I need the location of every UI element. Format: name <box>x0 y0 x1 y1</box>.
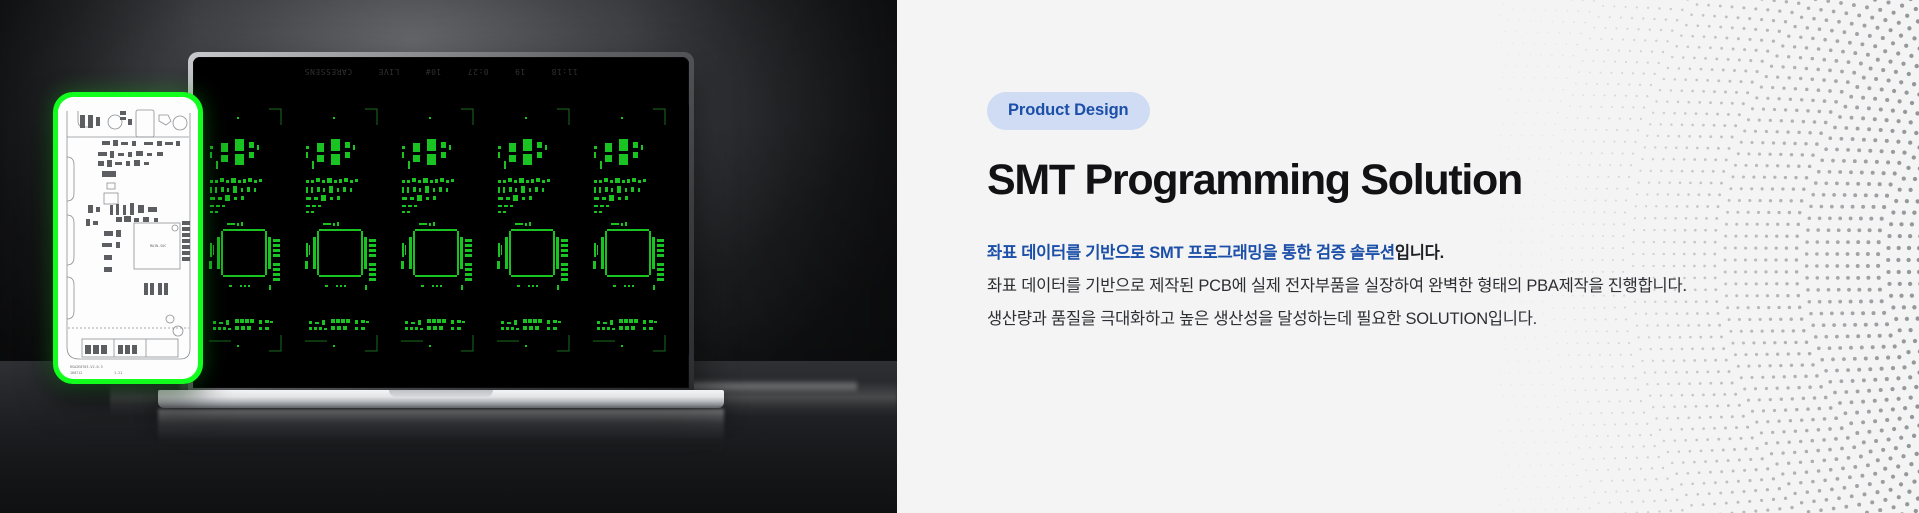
pcb-panel-array <box>207 105 689 355</box>
content-inner: Product Design SMT Programming Solution … <box>897 0 1919 336</box>
phone-schematic-svg: MAIN-SOC RSA2E0703-V2.0.3 160712 1.21 <box>58 97 198 379</box>
laptop-base <box>158 390 724 408</box>
svg-text:1.21: 1.21 <box>114 371 122 375</box>
svg-text:MAIN-SOC: MAIN-SOC <box>150 244 166 248</box>
status-item-4: LIVE <box>378 67 399 76</box>
status-item-0: 11:18 <box>551 67 578 76</box>
description-line-2: 좌표 데이터를 기반으로 제작된 PCB에 실제 전자부품을 실장하여 완벽한 … <box>987 270 1919 303</box>
svg-text:RSA2E0703-V2.0.3: RSA2E0703-V2.0.3 <box>70 365 103 369</box>
status-item-5: CARESSENS <box>304 67 352 76</box>
laptop-screen: 11:18 19 0:27 10# LIVE CARESSENS <box>193 57 689 388</box>
phone-board-drawing: MAIN-SOC RSA2E0703-V2.0.3 160712 1.21 <box>58 97 198 379</box>
description-line-1: 좌표 데이터를 기반으로 SMT 프로그래밍을 통한 검증 솔루션입니다. <box>987 237 1919 270</box>
description-line-3: 생산량과 품질을 극대화하고 높은 생산성을 달성하는데 필요한 SOLUTIO… <box>987 303 1919 336</box>
category-badge: Product Design <box>987 92 1150 130</box>
phone-pcb-mockup: MAIN-SOC RSA2E0703-V2.0.3 160712 1.21 <box>53 92 203 384</box>
svg-text:160712: 160712 <box>70 371 82 375</box>
laptop-base-notch <box>389 390 493 397</box>
status-item-2: 0:27 <box>467 67 488 76</box>
content-panel: Product Design SMT Programming Solution … <box>897 0 1919 513</box>
description-highlight-tail: 입니다. <box>1395 244 1444 262</box>
laptop-lid: 11:18 19 0:27 10# LIVE CARESSENS <box>188 52 694 392</box>
status-item-3: 10# <box>425 67 441 76</box>
screen-status-bar: 11:18 19 0:27 10# LIVE CARESSENS <box>193 65 689 78</box>
laptop-mockup: 11:18 19 0:27 10# LIVE CARESSENS <box>188 52 694 392</box>
description-block: 좌표 데이터를 기반으로 SMT 프로그래밍을 통한 검증 솔루션입니다. 좌표… <box>987 237 1919 336</box>
status-item-1: 19 <box>515 67 526 76</box>
hero-visual-panel: 11:18 19 0:27 10# LIVE CARESSENS <box>0 0 897 513</box>
page-title: SMT Programming Solution <box>987 157 1919 203</box>
description-highlight: 좌표 데이터를 기반으로 SMT 프로그래밍을 통한 검증 솔루션 <box>987 244 1395 262</box>
smt-programming-solution-banner: 11:18 19 0:27 10# LIVE CARESSENS <box>0 0 1919 513</box>
laptop-base-reflection <box>158 409 724 455</box>
